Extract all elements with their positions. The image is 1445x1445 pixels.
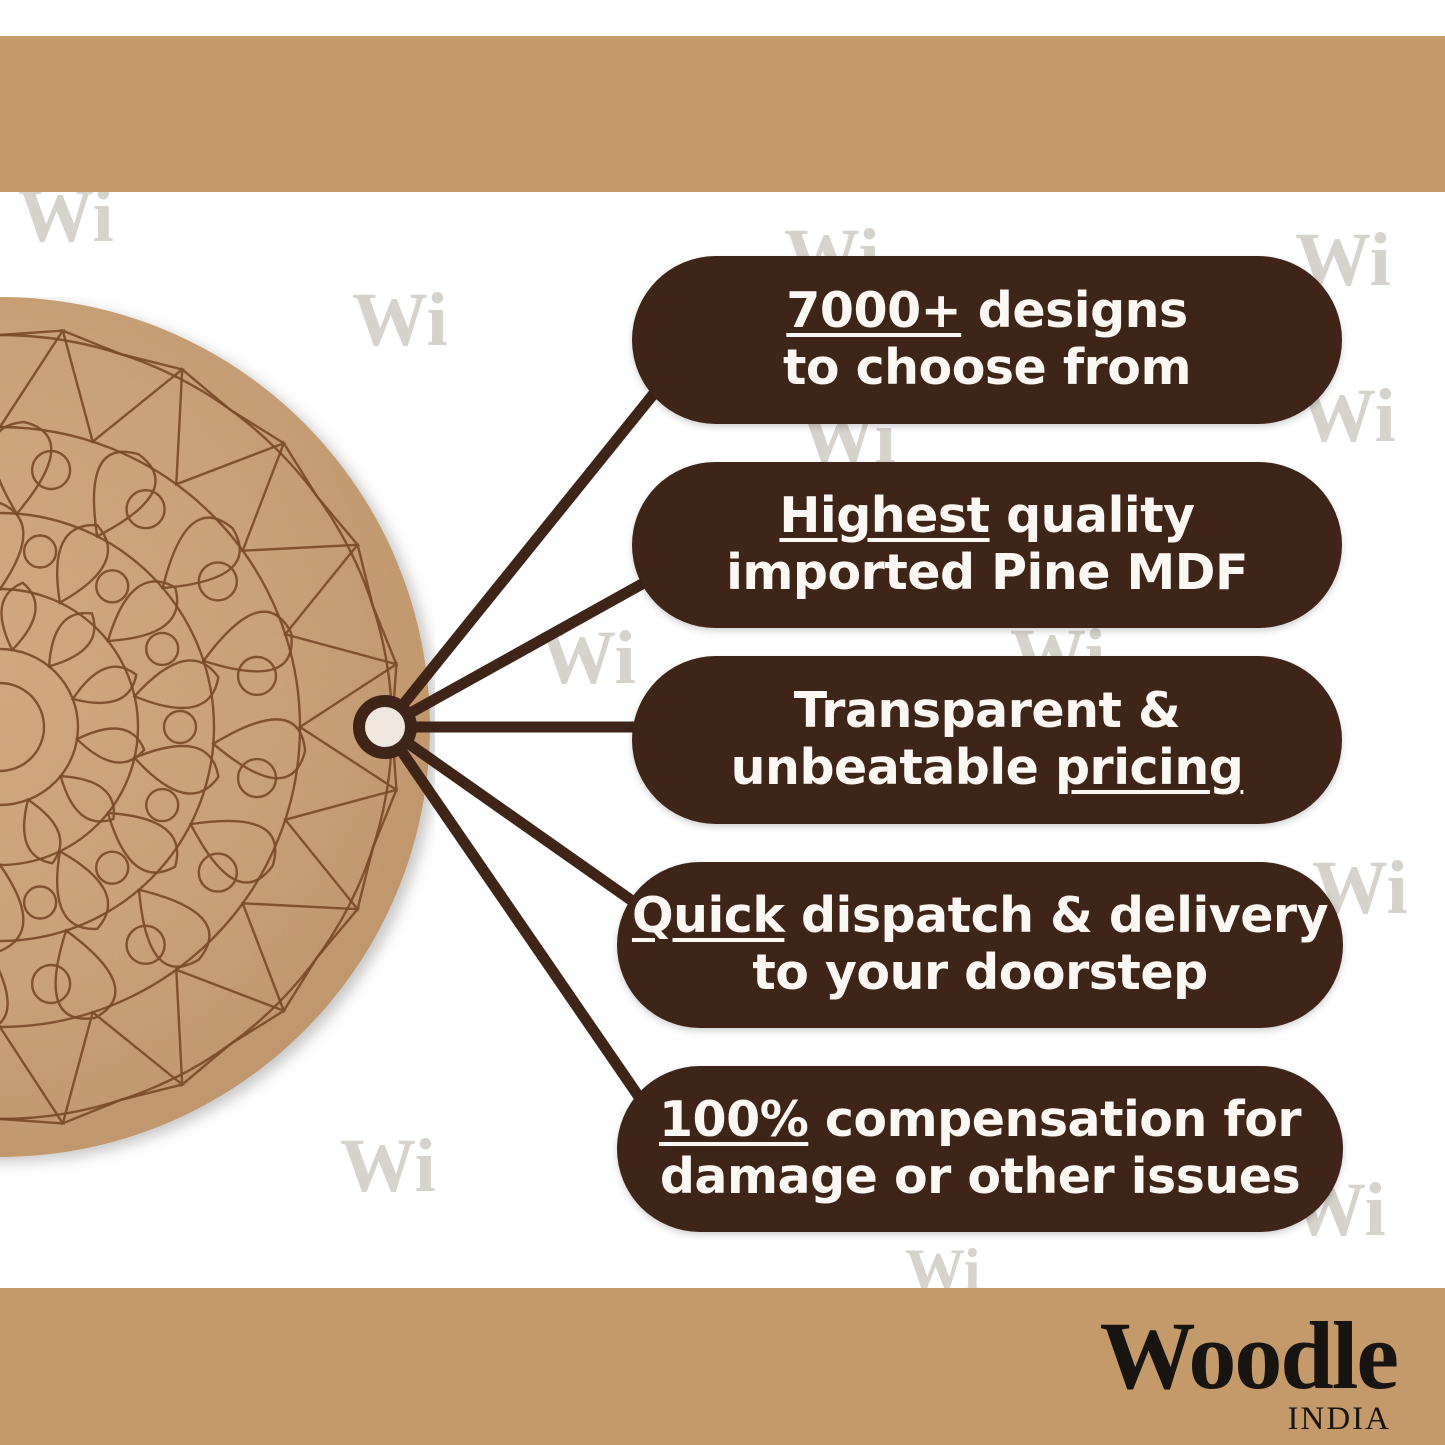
- usp-compensation-line-2: damage or other issues: [660, 1149, 1300, 1206]
- brand-logo-name: Woodle: [1100, 1310, 1397, 1401]
- usp-infographic: WiWiWiWiWiWiWiWiWiWiWiWi OUR USPs 7000+ …: [0, 0, 1445, 1445]
- usp-dispatch-text: to your doorstep: [752, 944, 1207, 1001]
- usp-compensation-text: compensation for: [808, 1091, 1301, 1148]
- usp-quality[interactable]: Highest qualityimported Pine MDF: [632, 462, 1342, 628]
- usp-designs-highlight: 7000+: [786, 282, 961, 339]
- usp-quality-line-1: Highest quality: [779, 488, 1194, 545]
- usp-designs-text: to choose from: [783, 339, 1191, 396]
- usp-pricing-highlight: pricing: [1055, 739, 1243, 796]
- usp-pricing-text: Transparent &: [794, 682, 1180, 739]
- usp-pricing-line-1: Transparent &: [794, 683, 1180, 740]
- header-band: [0, 36, 1445, 192]
- usp-pricing-line-2: unbeatable pricing: [731, 740, 1244, 797]
- brand-logo: Woodle INDIA: [1100, 1310, 1397, 1436]
- usp-quality-highlight: Highest: [779, 487, 989, 544]
- usp-pricing[interactable]: Transparent &unbeatable pricing: [632, 656, 1342, 824]
- usp-compensation[interactable]: 100% compensation fordamage or other iss…: [617, 1066, 1343, 1232]
- usp-designs[interactable]: 7000+ designsto choose from: [632, 256, 1342, 424]
- usp-dispatch-highlight: Quick: [632, 887, 784, 944]
- usp-quality-line-2: imported Pine MDF: [726, 545, 1248, 602]
- usp-pricing-text: unbeatable: [731, 739, 1055, 796]
- usp-designs-line-1: 7000+ designs: [786, 283, 1187, 340]
- usp-compensation-text: damage or other issues: [660, 1148, 1300, 1205]
- usp-quality-text: quality: [990, 487, 1195, 544]
- mandala-svg: [0, 297, 435, 1182]
- mandala-mdf-disc: [0, 297, 435, 1182]
- usp-compensation-highlight: 100%: [659, 1091, 808, 1148]
- usp-dispatch-text: dispatch & delivery: [784, 887, 1328, 944]
- usp-dispatch-line-2: to your doorstep: [752, 945, 1207, 1002]
- usp-dispatch[interactable]: Quick dispatch & deliveryto your doorste…: [617, 862, 1343, 1028]
- usp-compensation-line-1: 100% compensation for: [659, 1092, 1301, 1149]
- watermark-wi: Wi: [540, 620, 636, 696]
- usp-designs-line-2: to choose from: [783, 340, 1191, 397]
- usp-dispatch-line-1: Quick dispatch & delivery: [632, 888, 1328, 945]
- usp-designs-text: designs: [961, 282, 1187, 339]
- usp-quality-text: imported Pine MDF: [726, 544, 1248, 601]
